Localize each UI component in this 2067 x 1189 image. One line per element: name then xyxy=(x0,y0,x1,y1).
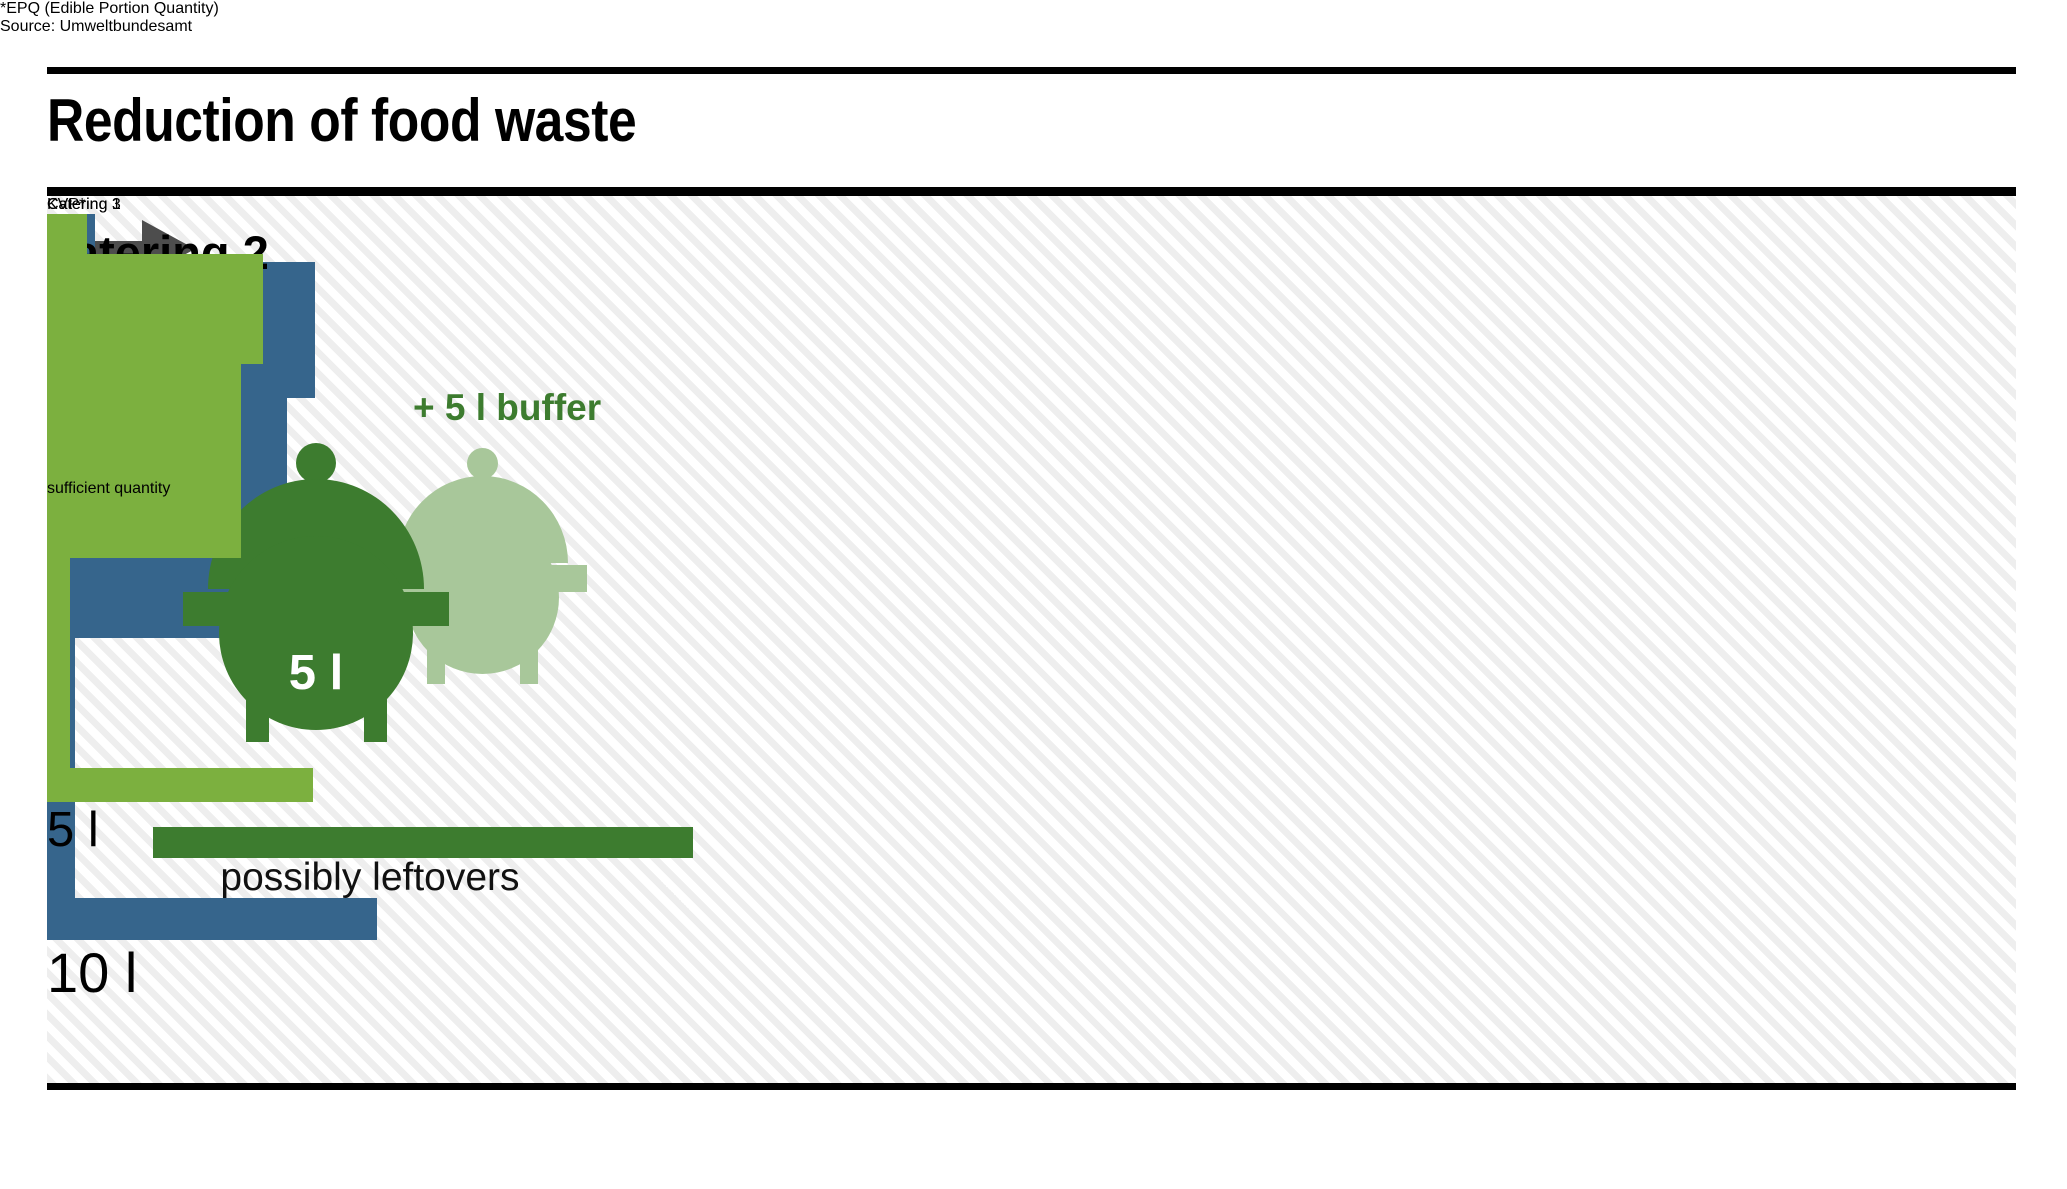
stage-caption-3: sufficient quantity xyxy=(47,480,617,498)
title-divider xyxy=(47,67,2016,74)
stage-heading-3: Catering 3 xyxy=(47,196,617,214)
dish-bowl-icon xyxy=(47,364,241,558)
page-title: Reduction of food waste xyxy=(47,82,1423,160)
dish-knob-icon xyxy=(47,214,87,254)
dish-rim-icon xyxy=(47,768,313,802)
infographic-root: Reduction of food waste Catering 1 10 l xyxy=(0,0,2067,1189)
dish-leg-left-icon xyxy=(47,558,70,663)
stage-catering-3: Catering 3 5 l sufficient quantity xyxy=(47,196,617,1083)
dish-lid-icon xyxy=(47,254,263,364)
source-credit: Source: Umweltbundesamt xyxy=(0,18,2067,36)
dish-leg-right-icon xyxy=(47,663,70,768)
diagram-panel: Catering 1 10 l lots of leftovers xyxy=(47,187,2016,1090)
dish-volume-label-3: 5 l xyxy=(47,802,313,858)
chafing-dish-icon-3: 5 l xyxy=(47,214,313,480)
footnote-text: EPQ (Edible Portion Quantity) xyxy=(6,0,219,17)
footnote: *EPQ (Edible Portion Quantity) xyxy=(0,0,2067,18)
